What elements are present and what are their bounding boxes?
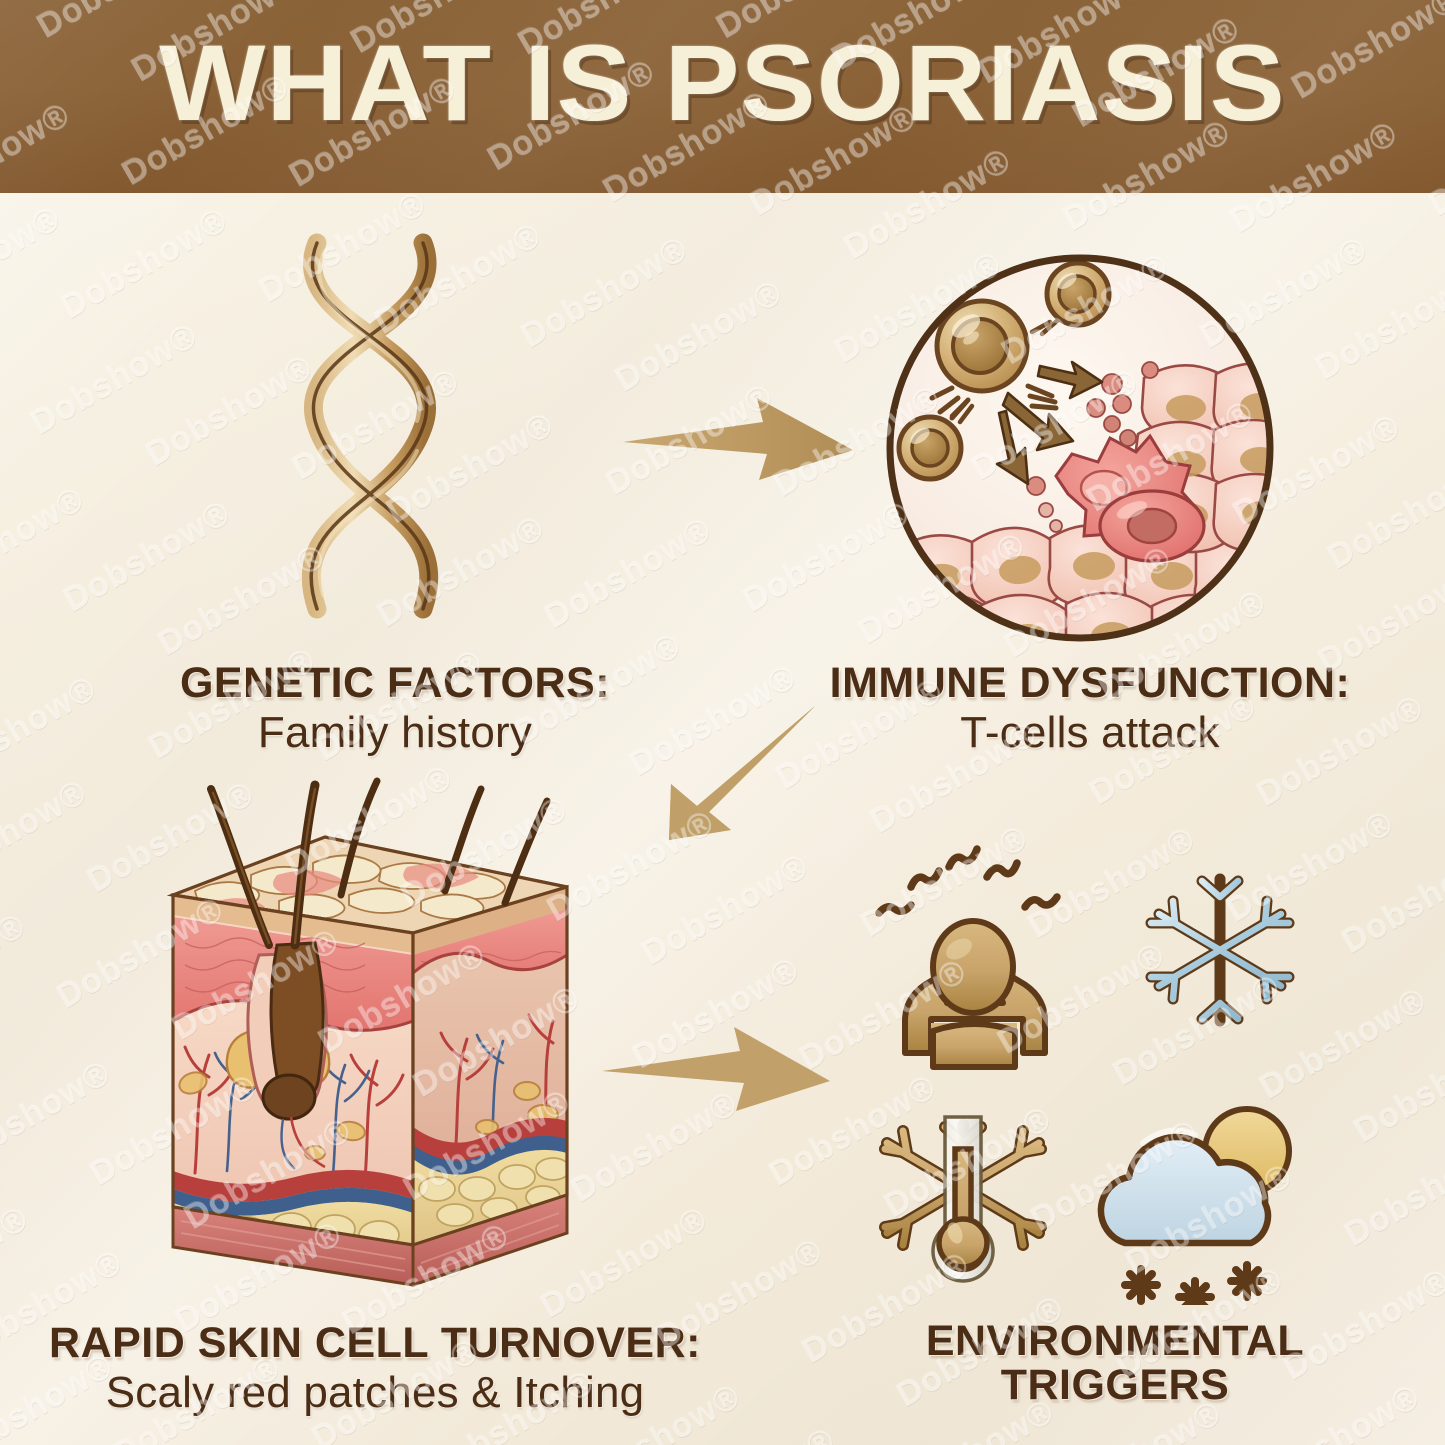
skin-title: RAPID SKIN CELL TURNOVER:	[10, 1320, 740, 1366]
dna-helix-icon	[255, 215, 485, 635]
label-immune-dysfunction: IMMUNE DYSFUNCTION: T-cells attack	[790, 660, 1390, 757]
env-title: ENVIRONMENTAL	[860, 1320, 1370, 1364]
arrow-genetic-to-immune	[617, 398, 857, 523]
arrow-skin-to-environment	[598, 1025, 833, 1160]
immune-title: IMMUNE DYSFUNCTION:	[790, 660, 1390, 706]
header-band: WHAT IS PSORIASIS	[0, 0, 1445, 193]
skin-subtitle: Scaly red patches & Itching	[10, 1368, 740, 1417]
skin-cross-section-icon	[155, 775, 585, 1315]
immune-subtitle: T-cells attack	[790, 708, 1390, 757]
environmental-icons-group	[845, 845, 1335, 1305]
label-environmental-triggers: ENVIRONMENTAL TRIGGERS	[860, 1320, 1370, 1408]
label-genetic-factors: GENETIC FACTORS: Family history	[70, 660, 720, 757]
immune-cells-circle-icon	[880, 248, 1280, 648]
env-subtitle: TRIGGERS	[860, 1364, 1370, 1408]
label-rapid-skin-cell-turnover: RAPID SKIN CELL TURNOVER: Scaly red patc…	[10, 1320, 740, 1417]
page-title: WHAT IS PSORIASIS	[0, 29, 1445, 137]
infographic-poster: WHAT IS PSORIASIS	[0, 0, 1445, 1445]
genetic-title: GENETIC FACTORS:	[70, 660, 720, 706]
genetic-subtitle: Family history	[70, 708, 720, 757]
